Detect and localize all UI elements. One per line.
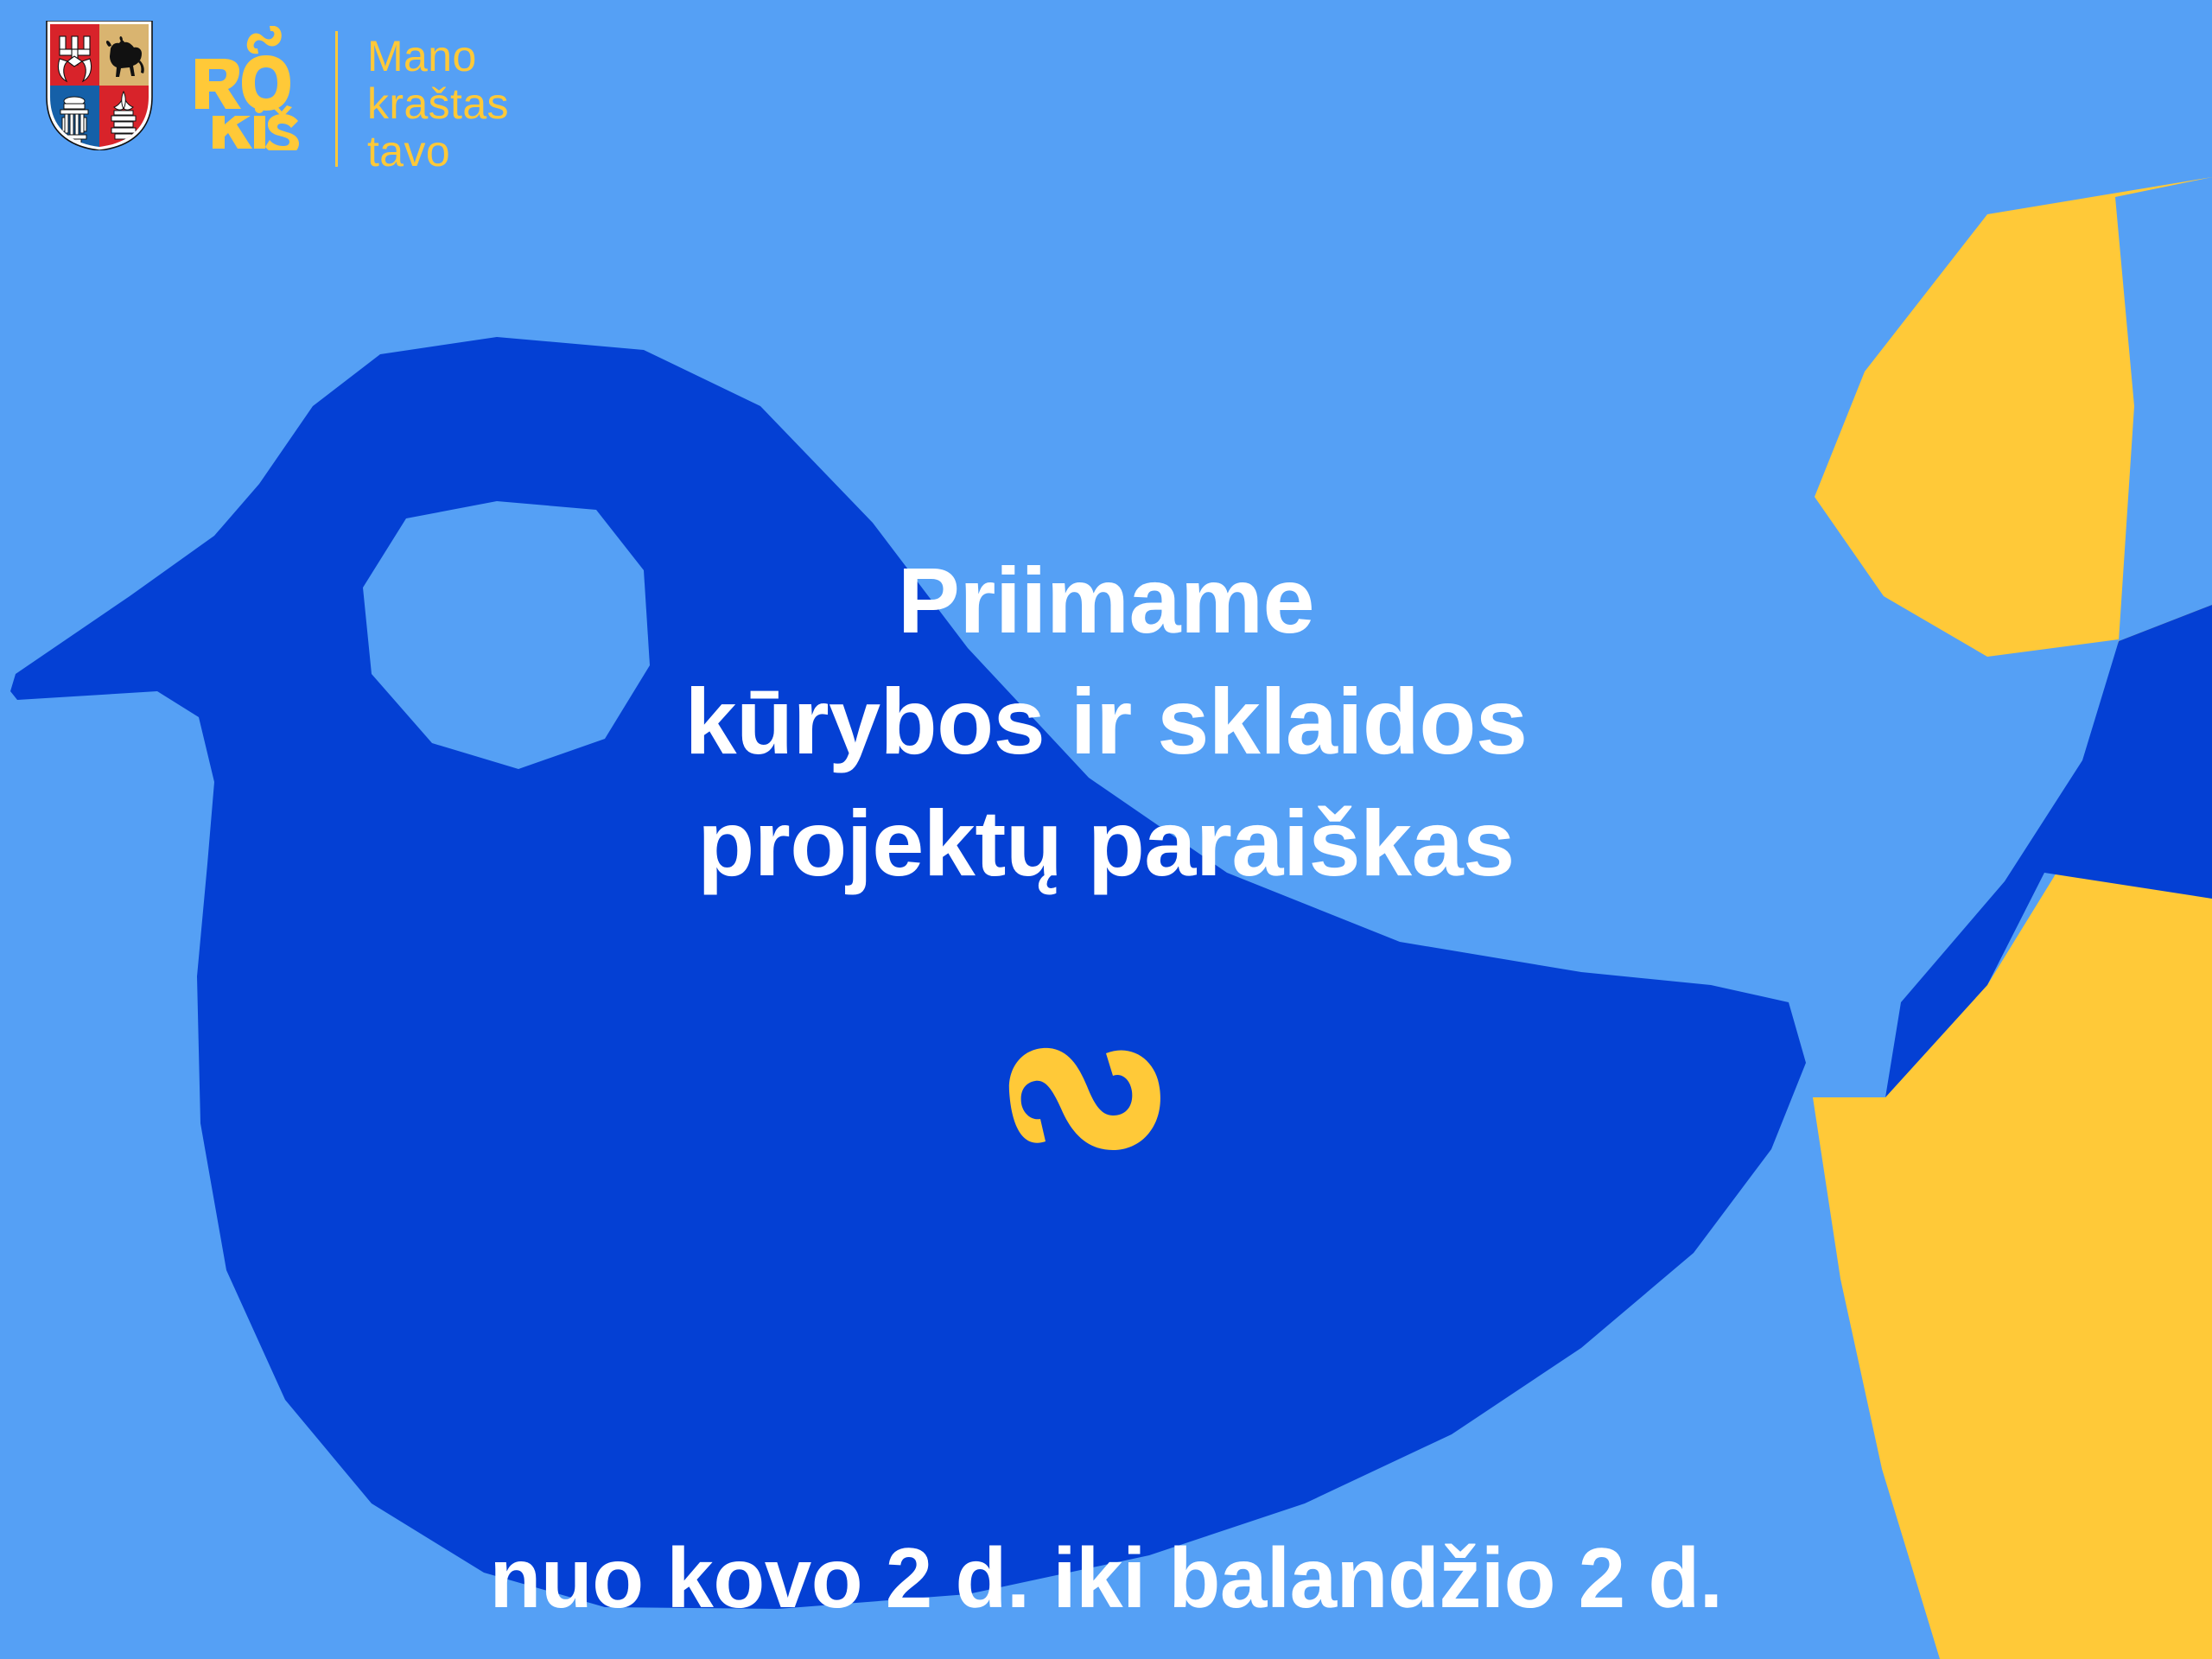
lockup-divider xyxy=(335,31,338,167)
poster-illustration xyxy=(0,0,2212,1659)
brand-tagline: Mano kraštas tavo xyxy=(367,26,509,175)
wordmark-group[interactable]: Mano kraštas tavo xyxy=(192,26,509,175)
rokiskis-wordmark-icon xyxy=(192,26,306,150)
brand-lockup[interactable]: Mano kraštas tavo xyxy=(45,21,509,175)
yellow-squiggle-icon xyxy=(995,1024,1217,1171)
coat-of-arms-icon xyxy=(45,21,154,150)
poster-canvas: Mano kraštas tavo Priimame kūrybos ir sk… xyxy=(0,0,2212,1659)
